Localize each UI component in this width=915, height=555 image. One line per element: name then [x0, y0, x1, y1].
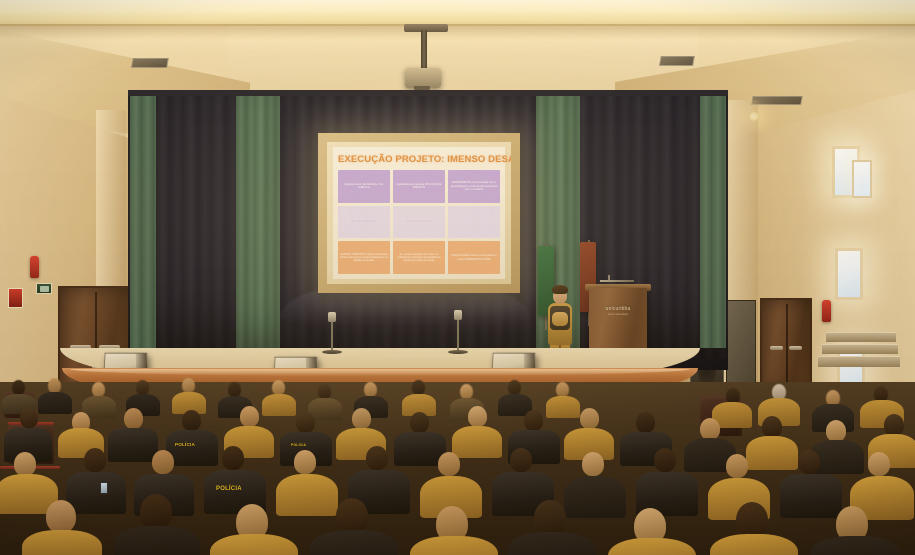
audience-head	[14, 452, 36, 476]
audience-head	[826, 420, 846, 442]
audience-head	[884, 414, 904, 436]
audience-shoulders	[276, 474, 338, 516]
podium-venue-logo-sub: centro universitario	[596, 313, 640, 316]
audience-head	[240, 406, 259, 427]
audience-head-foreground	[736, 502, 768, 538]
fire-extinguisher-icon	[822, 300, 831, 322]
aisle-step	[818, 356, 900, 367]
audience-tactical-vest	[108, 428, 158, 462]
vest-police-label: POLÍCIA	[175, 442, 195, 447]
audience-head	[182, 410, 201, 431]
equipment-cabinet	[726, 300, 756, 394]
microphone-stand-base	[322, 350, 342, 354]
vest-police-label: POLÍCIA	[291, 443, 306, 447]
presenter-hair	[552, 285, 568, 294]
slide-cell: EXPERIMENTO comprometido com a aprendiza…	[448, 170, 500, 203]
audience-head	[272, 380, 285, 395]
fire-extinguisher-icon	[30, 256, 39, 278]
slide-title: EXECUÇÃO PROJETO: IMENSO DESAFIO	[338, 154, 500, 165]
audience-head	[124, 408, 143, 429]
microphone-stand-pole	[457, 316, 459, 352]
projector-pole	[421, 30, 427, 72]
audience-head	[20, 408, 38, 428]
audience-head	[636, 412, 655, 433]
audience-shoulders-foreground	[710, 534, 798, 555]
stage-curtain-side-right-edge	[700, 96, 726, 348]
projection-screen-frame: EXECUÇÃO PROJETO: IMENSO DESAFIO Agradec…	[318, 133, 520, 293]
audience-shoulders	[38, 392, 72, 414]
audience-head	[438, 452, 460, 476]
slide-cell: Agradecimento parceria IPC/CHOQUE EVENTO…	[393, 170, 445, 203]
audience-head	[48, 378, 61, 393]
aisle-step	[826, 332, 896, 342]
slide-cell: Ex. portas cerradas com base em indicado…	[393, 241, 445, 274]
stage-curtain-side-left-edge	[130, 96, 156, 348]
microphone-icon	[454, 310, 462, 320]
ceiling-vent-icon	[751, 96, 803, 105]
audience-head	[410, 412, 429, 433]
slide-cell: Isso não vai dar certo	[338, 206, 390, 239]
audience-head	[296, 412, 315, 433]
audience-head	[582, 452, 604, 476]
audience-tactical-vest	[780, 474, 842, 518]
audience-shoulders	[262, 394, 296, 416]
aisle-step	[822, 344, 898, 354]
slide-cell: Agradecimento Ten Miranda e Ten Guilherm…	[338, 170, 390, 203]
audience-shoulders	[564, 476, 626, 518]
audience-shoulders	[452, 426, 502, 458]
audience-head	[510, 448, 532, 472]
audience-head	[364, 382, 377, 397]
smartphone-icon[interactable]	[100, 482, 108, 494]
audience-head-foreground	[534, 500, 566, 536]
audience-shoulders	[746, 436, 798, 470]
door-split-line	[786, 304, 788, 389]
audience-head	[468, 406, 487, 427]
audience-head	[228, 382, 241, 397]
audience-head	[508, 380, 521, 395]
audience-head	[222, 446, 244, 470]
cove-light-shadow	[0, 24, 915, 40]
audience-head	[152, 450, 174, 474]
audience-shoulders-foreground	[508, 532, 596, 555]
audience-head	[84, 448, 106, 472]
stage-curtain-side-left	[236, 96, 280, 354]
audience-head	[294, 450, 316, 474]
exit-sign-icon	[36, 283, 52, 294]
audience-head	[524, 410, 543, 431]
cove-light-strip	[0, 0, 915, 26]
audience-shoulders-foreground	[114, 526, 200, 555]
audience-head	[700, 418, 720, 440]
vest-police-label: POLÍCIA	[216, 486, 242, 492]
audience-head	[460, 384, 473, 399]
audience-head	[136, 380, 149, 395]
microphone-icon	[328, 312, 336, 322]
audience-head	[726, 454, 748, 478]
door-push-bar	[789, 346, 802, 350]
audience-head	[182, 378, 195, 393]
fire-extinguisher-box-icon	[8, 288, 23, 308]
audience-head	[352, 408, 371, 429]
audience-head	[412, 380, 425, 395]
audience-head-foreground	[336, 498, 368, 534]
ceiling-projector-icon	[405, 68, 441, 88]
audience-head	[580, 408, 599, 429]
audience-head	[798, 450, 820, 474]
presentation-slide: EXECUÇÃO PROJETO: IMENSO DESAFIO Agradec…	[333, 147, 505, 279]
presenter-arms	[552, 312, 568, 326]
ceiling-vent-icon	[659, 56, 695, 66]
audience-shoulders	[546, 396, 580, 418]
projection-screen-surface: EXECUÇÃO PROJETO: IMENSO DESAFIO Agradec…	[327, 142, 511, 284]
slide-cell	[448, 206, 500, 239]
auditorium-door-right[interactable]	[760, 298, 812, 394]
audience-head	[762, 416, 782, 438]
audience-head	[92, 382, 105, 397]
microphone-stand-pole	[331, 318, 333, 352]
door-push-bar	[770, 346, 783, 350]
slide-content-grid: Agradecimento Ten Miranda e Ten Guilherm…	[338, 170, 500, 274]
audience-head	[318, 384, 331, 399]
podium-microphone	[600, 280, 634, 282]
audience-head-foreground	[140, 494, 172, 530]
audience-head	[12, 380, 25, 395]
audience-head	[654, 448, 676, 472]
slide-cell: ESTUDO CIENTÍFICO alguns elementos inici…	[338, 241, 390, 274]
audience-head	[556, 382, 569, 397]
audience-shoulders-foreground	[310, 530, 398, 555]
audience-head	[366, 446, 388, 470]
auditorium-scene: EXECUÇÃO PROJETO: IMENSO DESAFIO Agradec…	[0, 0, 915, 555]
audience-shoulders-foreground	[22, 530, 102, 555]
wall-window-small	[852, 160, 872, 198]
audience-tactical-vest	[66, 472, 126, 514]
podium-venue-logo: unicuritiba	[596, 306, 640, 312]
microphone-stand-base	[448, 350, 468, 354]
audience-head	[868, 452, 890, 476]
audience-shoulders-foreground	[210, 534, 298, 555]
ceiling-vent-icon	[131, 58, 169, 68]
audience-head-foreground	[46, 500, 76, 533]
slide-cell: Isso não vai funcionar	[393, 206, 445, 239]
slide-cell: DIFICULDADE manter o cronograma 3 meses …	[448, 241, 500, 274]
wall-window	[835, 248, 863, 300]
